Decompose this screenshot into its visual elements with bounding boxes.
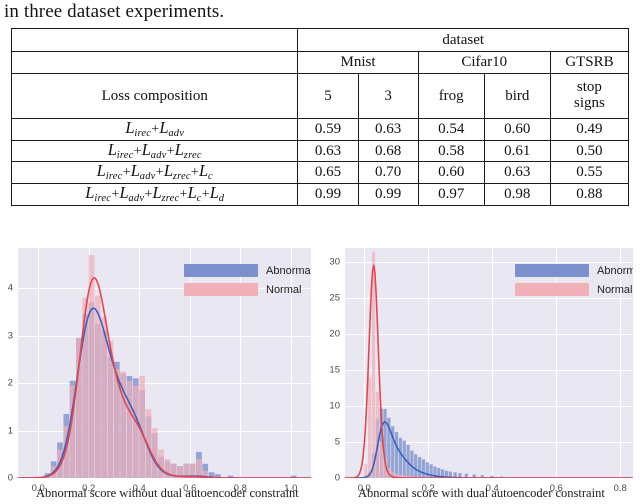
header-class-5: 5 <box>298 74 358 119</box>
y-axis-tick-label: 5 <box>320 437 340 448</box>
cell-value: 0.58 <box>418 140 484 162</box>
cell-value: 0.63 <box>484 162 550 184</box>
cell-value: 0.49 <box>550 119 628 141</box>
y-axis-tick-label: 4 <box>0 283 13 294</box>
x-axis-label-left: Abnormal score without dual autoencoder … <box>36 486 299 501</box>
legend-left: Abnormal Normal <box>184 264 311 302</box>
header-group-cifar10: Cifar10 <box>418 52 550 74</box>
y-axis-tick-label: 2 <box>0 378 13 389</box>
y-axis-tick-label: 15 <box>320 365 340 376</box>
y-axis-tick-label: 1 <box>0 425 13 436</box>
cell-value: 0.99 <box>358 184 418 206</box>
y-axis-tick-label: 10 <box>320 401 340 412</box>
header-group-mnist: Mnist <box>298 52 418 74</box>
y-axis-tick-label: 20 <box>320 329 340 340</box>
cell-value: 0.60 <box>418 162 484 184</box>
header-class-stop-signs: stop signs <box>550 74 628 119</box>
legend-item-abnormal: Abnormal <box>184 264 311 277</box>
table-header-row-classes: Loss composition 5 3 frog bird stop sign… <box>12 74 629 119</box>
cell-value: 0.68 <box>358 140 418 162</box>
legend-swatch-normal <box>515 283 589 296</box>
figure-caption-text: in three dataset experiments. <box>4 0 224 24</box>
y-axis-tick-label: 30 <box>320 257 340 268</box>
legend-label-normal: Normal <box>266 284 301 296</box>
legend-item-normal: Normal <box>515 283 633 296</box>
table-header-row-dataset: dataset <box>12 29 629 52</box>
results-table-container: dataset Mnist Cifar10 GTSRB Loss composi… <box>11 28 629 206</box>
row-label-loss-terms: Lirec+Ladv+Lzrec+Lc <box>12 162 298 184</box>
cell-value: 0.63 <box>298 140 358 162</box>
x-axis-label-right: Abnormal score with dual autoencoder con… <box>358 486 605 501</box>
legend-swatch-abnormal <box>515 264 589 277</box>
table-row: Lirec+Ladv+Lzrec 0.63 0.68 0.58 0.61 0.5… <box>12 140 629 162</box>
cell-value: 0.65 <box>298 162 358 184</box>
plot-area-right: Abnormal Normal <box>345 248 633 478</box>
cell-value: 0.50 <box>550 140 628 162</box>
header-class-3: 3 <box>358 74 418 119</box>
results-table: dataset Mnist Cifar10 GTSRB Loss composi… <box>11 28 629 206</box>
histogram-figure-left: Abnormal Normal 01234 0.00.20.40.60.81.0… <box>0 236 320 504</box>
table-row: Lirec+Ladv+Lzrec+Lc 0.65 0.70 0.60 0.63 … <box>12 162 629 184</box>
legend-label-abnormal: Abnormal <box>266 265 311 277</box>
legend-label-abnormal: Abnormal <box>597 265 633 277</box>
table-header-row-groups: Mnist Cifar10 GTSRB <box>12 52 629 74</box>
legend-item-abnormal: Abnormal <box>515 264 633 277</box>
cell-value: 0.59 <box>298 119 358 141</box>
cell-value: 0.63 <box>358 119 418 141</box>
header-dataset: dataset <box>298 29 629 52</box>
legend-item-normal: Normal <box>184 283 311 296</box>
table-corner-blank-2 <box>12 52 298 74</box>
cell-value: 0.55 <box>550 162 628 184</box>
cell-value: 0.99 <box>298 184 358 206</box>
header-loss-composition: Loss composition <box>12 74 298 119</box>
table-row: Lirec+Ladv 0.59 0.63 0.54 0.60 0.49 <box>12 119 629 141</box>
y-axis-tick-label: 0 <box>0 473 13 484</box>
cell-value: 0.97 <box>418 184 484 206</box>
cell-value: 0.70 <box>358 162 418 184</box>
table-corner-blank <box>12 29 298 52</box>
row-label-loss-terms: Lirec+Ladv <box>12 119 298 141</box>
cell-value: 0.61 <box>484 140 550 162</box>
legend-swatch-normal <box>184 283 258 296</box>
header-class-stop-signs-line2: signs <box>551 96 628 112</box>
cell-value: 0.60 <box>484 119 550 141</box>
cell-value: 0.98 <box>484 184 550 206</box>
cell-value: 0.88 <box>550 184 628 206</box>
plot-area-left: Abnormal Normal <box>18 248 311 478</box>
cell-value: 0.54 <box>418 119 484 141</box>
x-axis-tick-label: 0.8 <box>614 483 627 494</box>
legend-label-normal: Normal <box>597 284 632 296</box>
header-class-frog: frog <box>418 74 484 119</box>
header-group-gtsrb: GTSRB <box>550 52 628 74</box>
y-axis-tick-label: 0 <box>320 473 340 484</box>
legend-swatch-abnormal <box>184 264 258 277</box>
histogram-figure-right: Abnormal Normal 051015202530 0.00.20.40.… <box>320 236 640 504</box>
header-class-stop-signs-line1: stop <box>551 80 628 96</box>
y-axis-tick-label: 25 <box>320 293 340 304</box>
legend-right: Abnormal Normal <box>515 264 633 302</box>
header-class-bird: bird <box>484 74 550 119</box>
row-label-loss-terms: Lirec+Ladv+Lzrec <box>12 140 298 162</box>
figure-row: Abnormal Normal 01234 0.00.20.40.60.81.0… <box>0 236 640 504</box>
table-row: Lirec+Ladv+Lzrec+Lc+Ld 0.99 0.99 0.97 0.… <box>12 184 629 206</box>
y-axis-tick-label: 3 <box>0 330 13 341</box>
row-label-loss-terms: Lirec+Ladv+Lzrec+Lc+Ld <box>12 184 298 206</box>
